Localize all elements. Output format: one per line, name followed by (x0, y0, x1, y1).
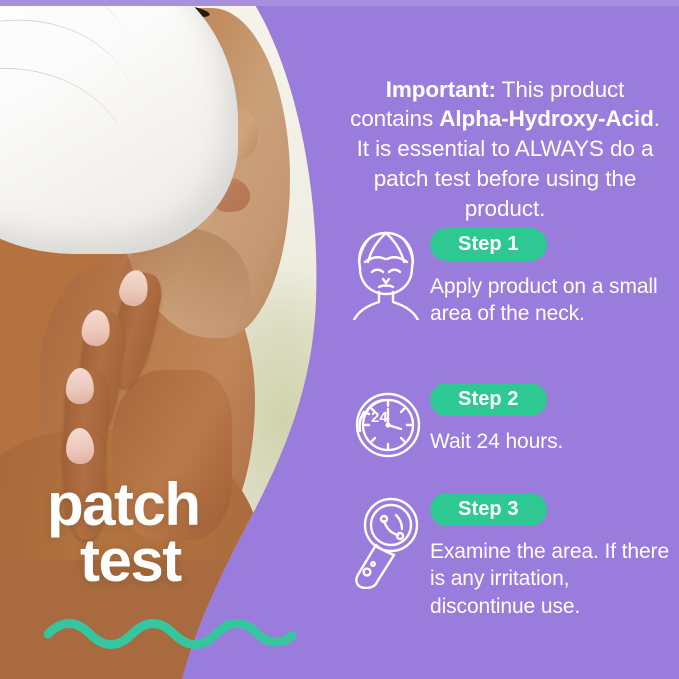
step-badge-2: Step 2 (430, 383, 547, 416)
step-badge-3: Step 3 (430, 493, 547, 526)
magnifying-glass-icon-svg (346, 493, 426, 589)
step-description-3: Examine the area. If there is any irrita… (430, 538, 670, 620)
magnifying-glass-icon (346, 493, 426, 583)
step-body-2: Step 2 Wait 24 hours. (430, 383, 670, 476)
step-description-2: Wait 24 hours. (430, 428, 670, 455)
page-title: patch test (47, 477, 200, 589)
clock-hours-label: 24 (371, 409, 388, 426)
step-body-1: Step 1 Apply product on a small area of … (430, 228, 670, 349)
face-towel-icon (346, 228, 426, 318)
content-column: Important: This product contains Alpha-H… (330, 0, 679, 679)
clock-24-hours-icon: 24 (346, 385, 426, 465)
step-description-1: Apply product on a small area of the nec… (430, 273, 670, 328)
top-edge-strip (0, 0, 679, 6)
wave-underline-decoration (44, 616, 296, 652)
title-line-one: patch (47, 477, 200, 533)
important-notice: Important: This product contains Alpha-H… (344, 75, 666, 225)
important-label: Important: (386, 77, 496, 102)
step-body-3: Step 3 Examine the area. If there is any… (430, 493, 670, 641)
step-badge-1: Step 1 (430, 228, 547, 261)
head-towel (0, 0, 238, 254)
ingredient-label: Alpha-Hydroxy-Acid (439, 106, 653, 131)
infographic-canvas: patch test Important: This product conta… (0, 0, 679, 679)
clock-24-hours-icon-svg: 24 (346, 385, 426, 465)
title-line-two: test (80, 533, 200, 589)
face-towel-icon-svg (346, 228, 426, 320)
